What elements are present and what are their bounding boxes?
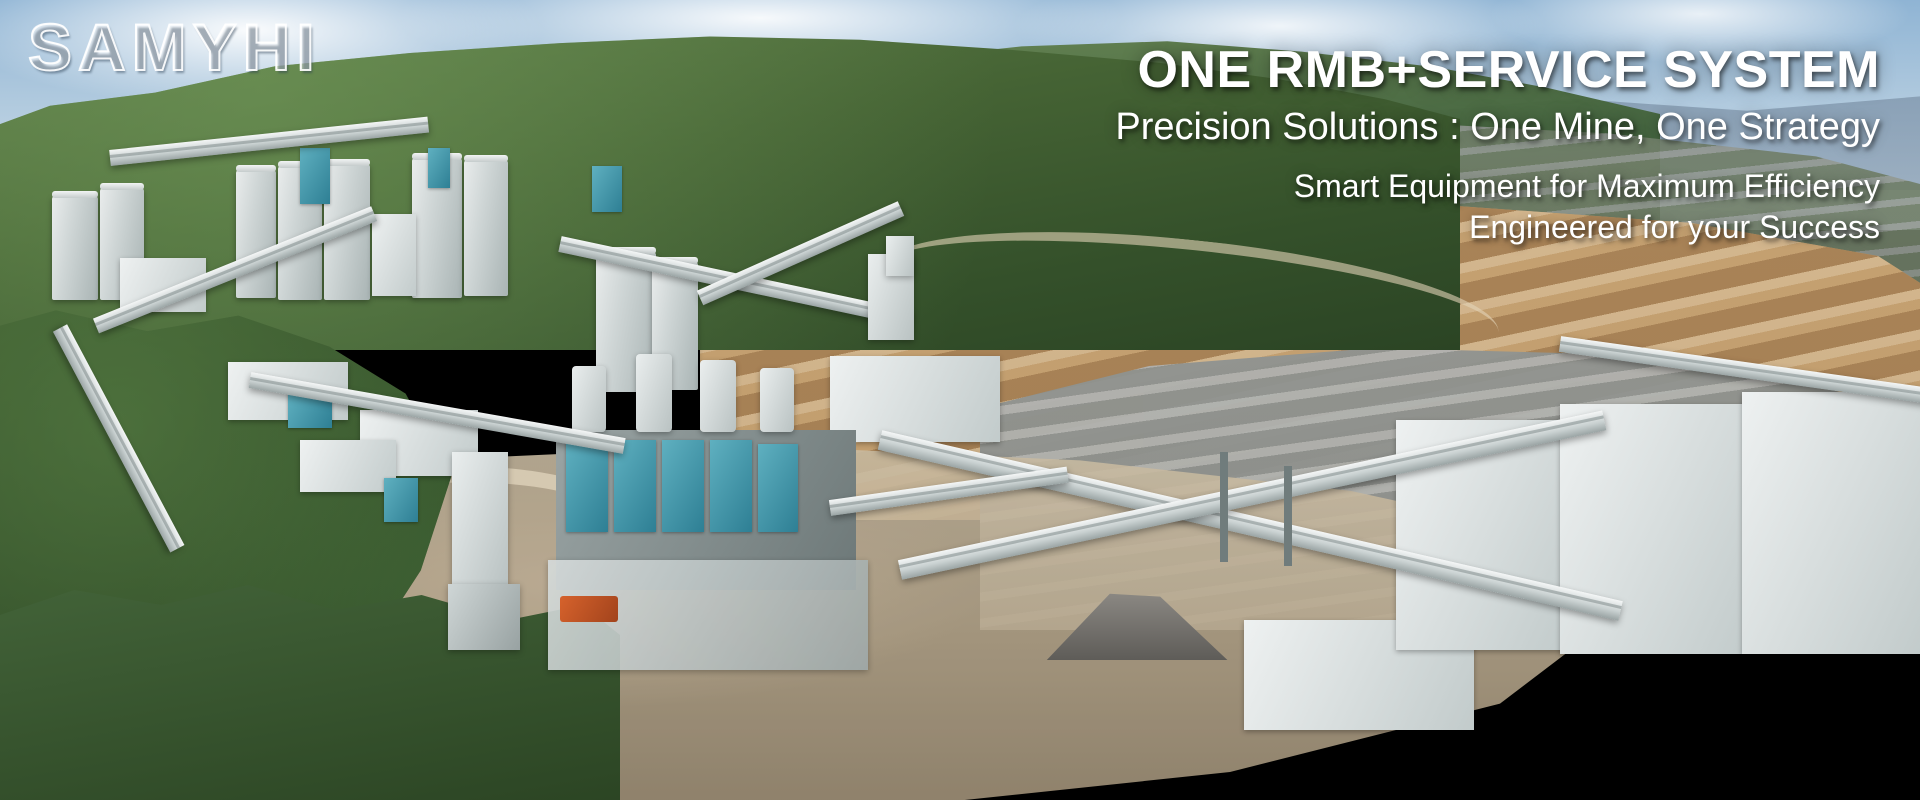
hero-subheadline: Precision Solutions : One Mine, One Stra… [770,106,1880,150]
baghouse-unit-3 [662,440,704,532]
equipment-teal-upper-3 [428,148,450,188]
feed-tower-left [452,452,508,584]
hero-headline: ONE RMB+SERVICE SYSTEM [770,42,1880,98]
hero-tagline: Smart Equipment for Maximum Efficiency E… [770,166,1880,248]
equipment-teal-upper-2 [592,166,622,212]
silo-cluster-a-7 [464,160,508,296]
baghouse-unit-2 [614,440,656,532]
plant-building-mid [300,440,396,492]
cyclone-tower-1 [572,366,606,432]
silo-wall-far-right-2 [1560,404,1750,654]
hero-tagline-line-1: Smart Equipment for Maximum Efficiency [770,166,1880,207]
cyclone-tower-2 [636,354,672,432]
plant-building-upper-left-2 [372,214,416,296]
pylon-right-2 [1284,466,1292,566]
silo-wall-far-right-3 [1742,392,1920,654]
hero-copy-block: ONE RMB+SERVICE SYSTEM Precision Solutio… [770,42,1880,248]
baghouse-unit-5 [758,444,798,532]
hero-tagline-line-2: Engineered for your Success [770,207,1880,248]
brand-logo-samyhi[interactable]: SAMYHI [28,14,321,80]
baghouse-unit-4 [710,440,752,532]
hero-banner: SAMYHI ONE RMB+SERVICE SYSTEM Precision … [0,0,1920,800]
equipment-teal-upper-1 [300,148,330,204]
silo-cluster-a-1 [52,196,98,300]
pylon-right-1 [1220,452,1228,562]
silo-cluster-a-3 [236,170,276,298]
equipment-teal-left-low [384,478,418,522]
excavator-orange [560,596,618,622]
baghouse-unit-1 [566,440,608,532]
feed-tower-left-2 [448,584,520,650]
cyclone-tower-4 [760,368,794,432]
cyclone-tower-3 [700,360,736,432]
